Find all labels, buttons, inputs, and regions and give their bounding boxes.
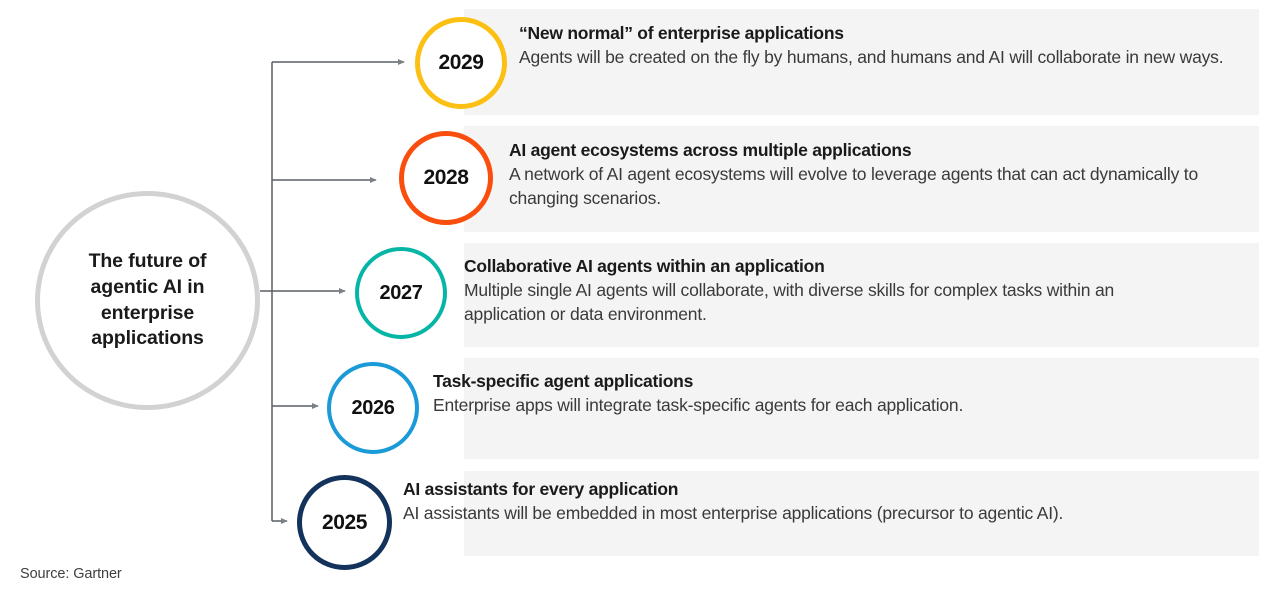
year-badge-2027[interactable]: 2027	[355, 247, 447, 339]
row-description: Enterprise apps will integrate task-spec…	[433, 394, 1158, 418]
row-text-block: Collaborative AI agents within an applic…	[464, 256, 1189, 327]
year-label: 2025	[322, 511, 367, 535]
timeline-row: 2027 Collaborative AI agents within an a…	[391, 243, 1259, 347]
infographic-canvas: The future of agentic AI in enterprise a…	[0, 0, 1274, 597]
row-title: Collaborative AI agents within an applic…	[464, 256, 1189, 277]
row-text-block: AI assistants for every application AI a…	[403, 479, 1128, 526]
row-text-block: AI agent ecosystems across multiple appl…	[509, 140, 1234, 211]
row-title: AI agent ecosystems across multiple appl…	[509, 140, 1234, 161]
row-description: A network of AI agent ecosystems will ev…	[509, 163, 1234, 211]
timeline-row: 2025 AI assistants for every application…	[331, 471, 1259, 556]
timeline-row: 2029 “New normal” of enterprise applicat…	[449, 9, 1259, 115]
row-text-block: “New normal” of enterprise applications …	[519, 23, 1244, 70]
row-title: “New normal” of enterprise applications	[519, 23, 1244, 44]
source-note: Source: Gartner	[20, 566, 122, 582]
year-badge-2028[interactable]: 2028	[399, 131, 493, 225]
row-description: Multiple single AI agents will collabora…	[464, 279, 1189, 327]
year-badge-2026[interactable]: 2026	[327, 362, 419, 454]
row-description: AI assistants will be embedded in most e…	[403, 502, 1128, 526]
row-description: Agents will be created on the fly by hum…	[519, 46, 1244, 70]
timeline-row: 2026 Task-specific agent applications En…	[361, 358, 1259, 459]
row-title: AI assistants for every application	[403, 479, 1128, 500]
year-label: 2026	[352, 397, 395, 420]
year-label: 2027	[380, 282, 423, 305]
timeline-row: 2028 AI agent ecosystems across multiple…	[421, 126, 1259, 232]
year-label: 2029	[438, 51, 483, 75]
year-label: 2028	[423, 166, 468, 190]
hub-label: The future of agentic AI in enterprise a…	[68, 249, 228, 353]
row-title: Task-specific agent applications	[433, 371, 1158, 392]
hub-circle: The future of agentic AI in enterprise a…	[35, 191, 260, 410]
year-badge-2029[interactable]: 2029	[415, 17, 507, 109]
year-badge-2025[interactable]: 2025	[297, 475, 392, 570]
row-text-block: Task-specific agent applications Enterpr…	[433, 371, 1158, 418]
